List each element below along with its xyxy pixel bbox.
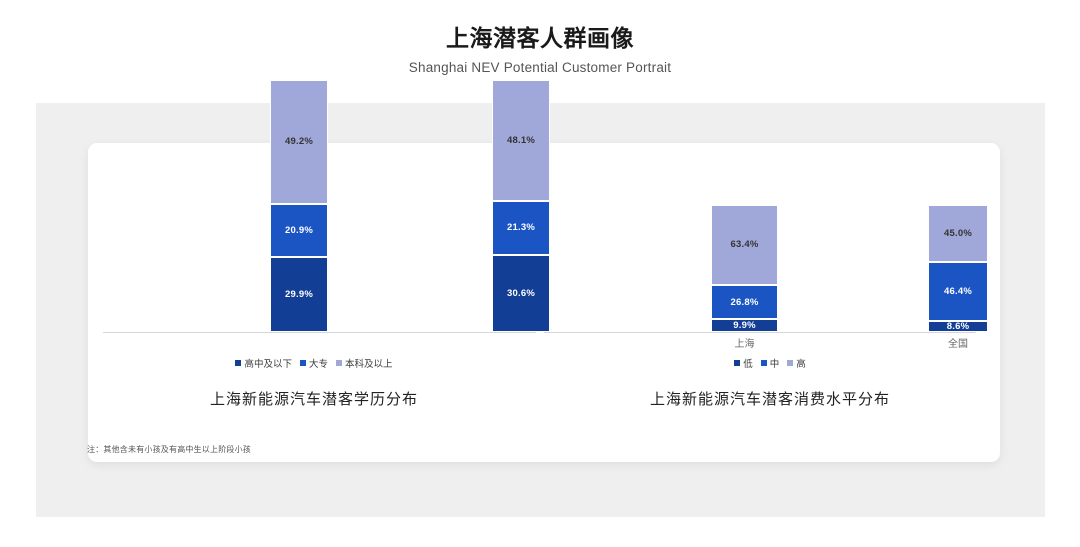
- legend-swatch-icon: [235, 360, 241, 366]
- axis-line: [544, 332, 976, 333]
- legend-education: 高中及以下大专本科及以上: [88, 356, 540, 370]
- slide-panel: 49.2%20.9%29.9%48.1%21.3%30.6% 高中及以下大专本科…: [36, 103, 1045, 517]
- chart-card: 49.2%20.9%29.9%48.1%21.3%30.6% 高中及以下大专本科…: [88, 143, 1000, 462]
- bar-stack: 45.0%46.4%8.6%: [928, 205, 988, 332]
- page-subtitle: Shanghai NEV Potential Customer Portrait: [0, 60, 1080, 75]
- legend-item[interactable]: 低: [734, 356, 753, 370]
- bar-value-label: 46.4%: [944, 287, 972, 297]
- bar-segment: 63.4%: [711, 205, 778, 286]
- bar-value-label: 29.9%: [285, 290, 313, 300]
- bar-value-label: 48.1%: [507, 136, 535, 146]
- bar-value-label: 63.4%: [731, 240, 759, 250]
- plot-area-education: 49.2%20.9%29.9%48.1%21.3%30.6%: [88, 143, 540, 333]
- bar-segment: 45.0%: [928, 205, 988, 262]
- bar-value-label: 9.9%: [733, 321, 755, 331]
- legend-item[interactable]: 高: [787, 356, 806, 370]
- bar-value-label: 45.0%: [944, 229, 972, 239]
- bar-value-label: 20.9%: [285, 226, 313, 236]
- category-labels-education: [88, 335, 540, 351]
- plot-area-consumption: 63.4%26.8%9.9%45.0%46.4%8.6%: [540, 143, 1000, 333]
- category-labels-consumption: 上海全国: [540, 335, 1000, 351]
- legend-swatch-icon: [336, 360, 342, 366]
- bar-stack: 49.2%20.9%29.9%: [270, 80, 328, 332]
- category-label: 全国: [948, 335, 968, 350]
- legend-swatch-icon: [787, 360, 793, 366]
- page-title: 上海潜客人群画像: [0, 24, 1080, 53]
- legend-consumption: 低中高: [540, 356, 1000, 370]
- legend-label: 高: [796, 356, 806, 370]
- axis-line: [103, 332, 536, 333]
- legend-label: 中: [770, 356, 780, 370]
- charts-row: 49.2%20.9%29.9%48.1%21.3%30.6% 高中及以下大专本科…: [88, 143, 1000, 462]
- bar-value-label: 8.6%: [947, 322, 969, 332]
- bar-segment: 9.9%: [711, 319, 778, 332]
- chart-caption-consumption: 上海新能源汽车潜客消费水平分布: [540, 388, 1000, 409]
- chart-consumption-level-distribution: 63.4%26.8%9.9%45.0%46.4%8.6% 上海全国 低中高 上海…: [540, 143, 1000, 462]
- bar-value-label: 26.8%: [731, 298, 759, 308]
- legend-label: 大专: [309, 356, 328, 370]
- bar-value-label: 49.2%: [285, 137, 313, 147]
- bar-segment: 20.9%: [270, 204, 328, 257]
- bar-segment: 46.4%: [928, 262, 988, 321]
- bar-segment: 26.8%: [711, 285, 778, 319]
- bar-segment: 49.2%: [270, 80, 328, 204]
- legend-swatch-icon: [761, 360, 767, 366]
- legend-swatch-icon: [734, 360, 740, 366]
- legend-swatch-icon: [300, 360, 306, 366]
- bar-value-label: 21.3%: [507, 223, 535, 233]
- legend-label: 本科及以上: [345, 356, 393, 370]
- legend-label: 低: [743, 356, 753, 370]
- chart-education-distribution: 49.2%20.9%29.9%48.1%21.3%30.6% 高中及以下大专本科…: [88, 143, 540, 462]
- legend-item[interactable]: 中: [761, 356, 780, 370]
- legend-label: 高中及以下: [244, 356, 292, 370]
- category-label: 上海: [735, 335, 755, 350]
- legend-item[interactable]: 高中及以下: [235, 356, 292, 370]
- legend-item[interactable]: 本科及以上: [336, 356, 393, 370]
- bar-segment: 8.6%: [928, 321, 988, 332]
- chart-caption-education: 上海新能源汽车潜客学历分布: [88, 388, 540, 409]
- footnote: 注：其他含未有小孩及有高中生以上阶段小孩: [87, 444, 251, 455]
- page-header: 上海潜客人群画像 Shanghai NEV Potential Customer…: [0, 24, 1080, 75]
- bar-segment: 29.9%: [270, 257, 328, 332]
- legend-item[interactable]: 大专: [300, 356, 328, 370]
- bar-value-label: 30.6%: [507, 289, 535, 299]
- bar-stack: 63.4%26.8%9.9%: [711, 205, 778, 332]
